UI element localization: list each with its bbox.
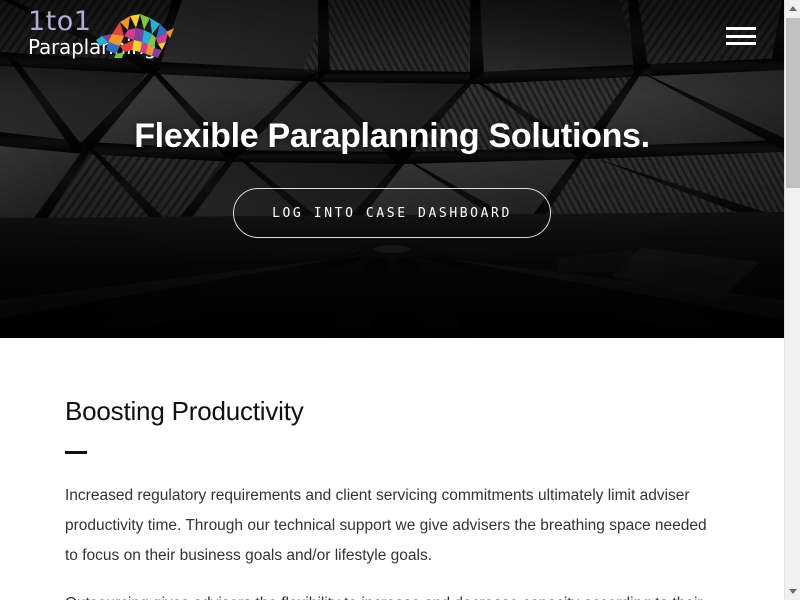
content-column: Boosting Productivity Increased regulato… [65, 338, 713, 600]
vertical-scrollbar[interactable] [784, 0, 800, 600]
page-title: Boosting Productivity [65, 396, 713, 427]
page-viewport: 1to1 Paraplanning [0, 0, 784, 600]
menu-bar-2 [726, 35, 756, 38]
scroll-down-arrow-icon[interactable] [785, 583, 800, 600]
menu-bar-1 [726, 27, 756, 30]
paragraph-1: Increased regulatory requirements and cl… [65, 481, 713, 571]
main-content: Boosting Productivity Increased regulato… [0, 338, 784, 600]
site-logo[interactable]: 1to1 Paraplanning [28, 8, 178, 66]
hamburger-menu-icon[interactable] [726, 24, 758, 48]
hero-title: Flexible Paraplanning Solutions. [134, 118, 650, 155]
scrollbar-thumb[interactable] [786, 18, 800, 188]
hero-section: 1to1 Paraplanning [0, 0, 784, 338]
site-header: 1to1 Paraplanning [0, 0, 784, 78]
scroll-up-arrow-icon[interactable] [785, 0, 800, 17]
paragraph-2: Outsourcing gives advisers the flexibili… [65, 589, 713, 600]
log-into-case-dashboard-button[interactable]: LOG INTO CASE DASHBOARD [233, 188, 551, 238]
bull-logo-icon [90, 6, 176, 58]
title-divider [65, 451, 87, 454]
menu-bar-3 [726, 42, 756, 45]
